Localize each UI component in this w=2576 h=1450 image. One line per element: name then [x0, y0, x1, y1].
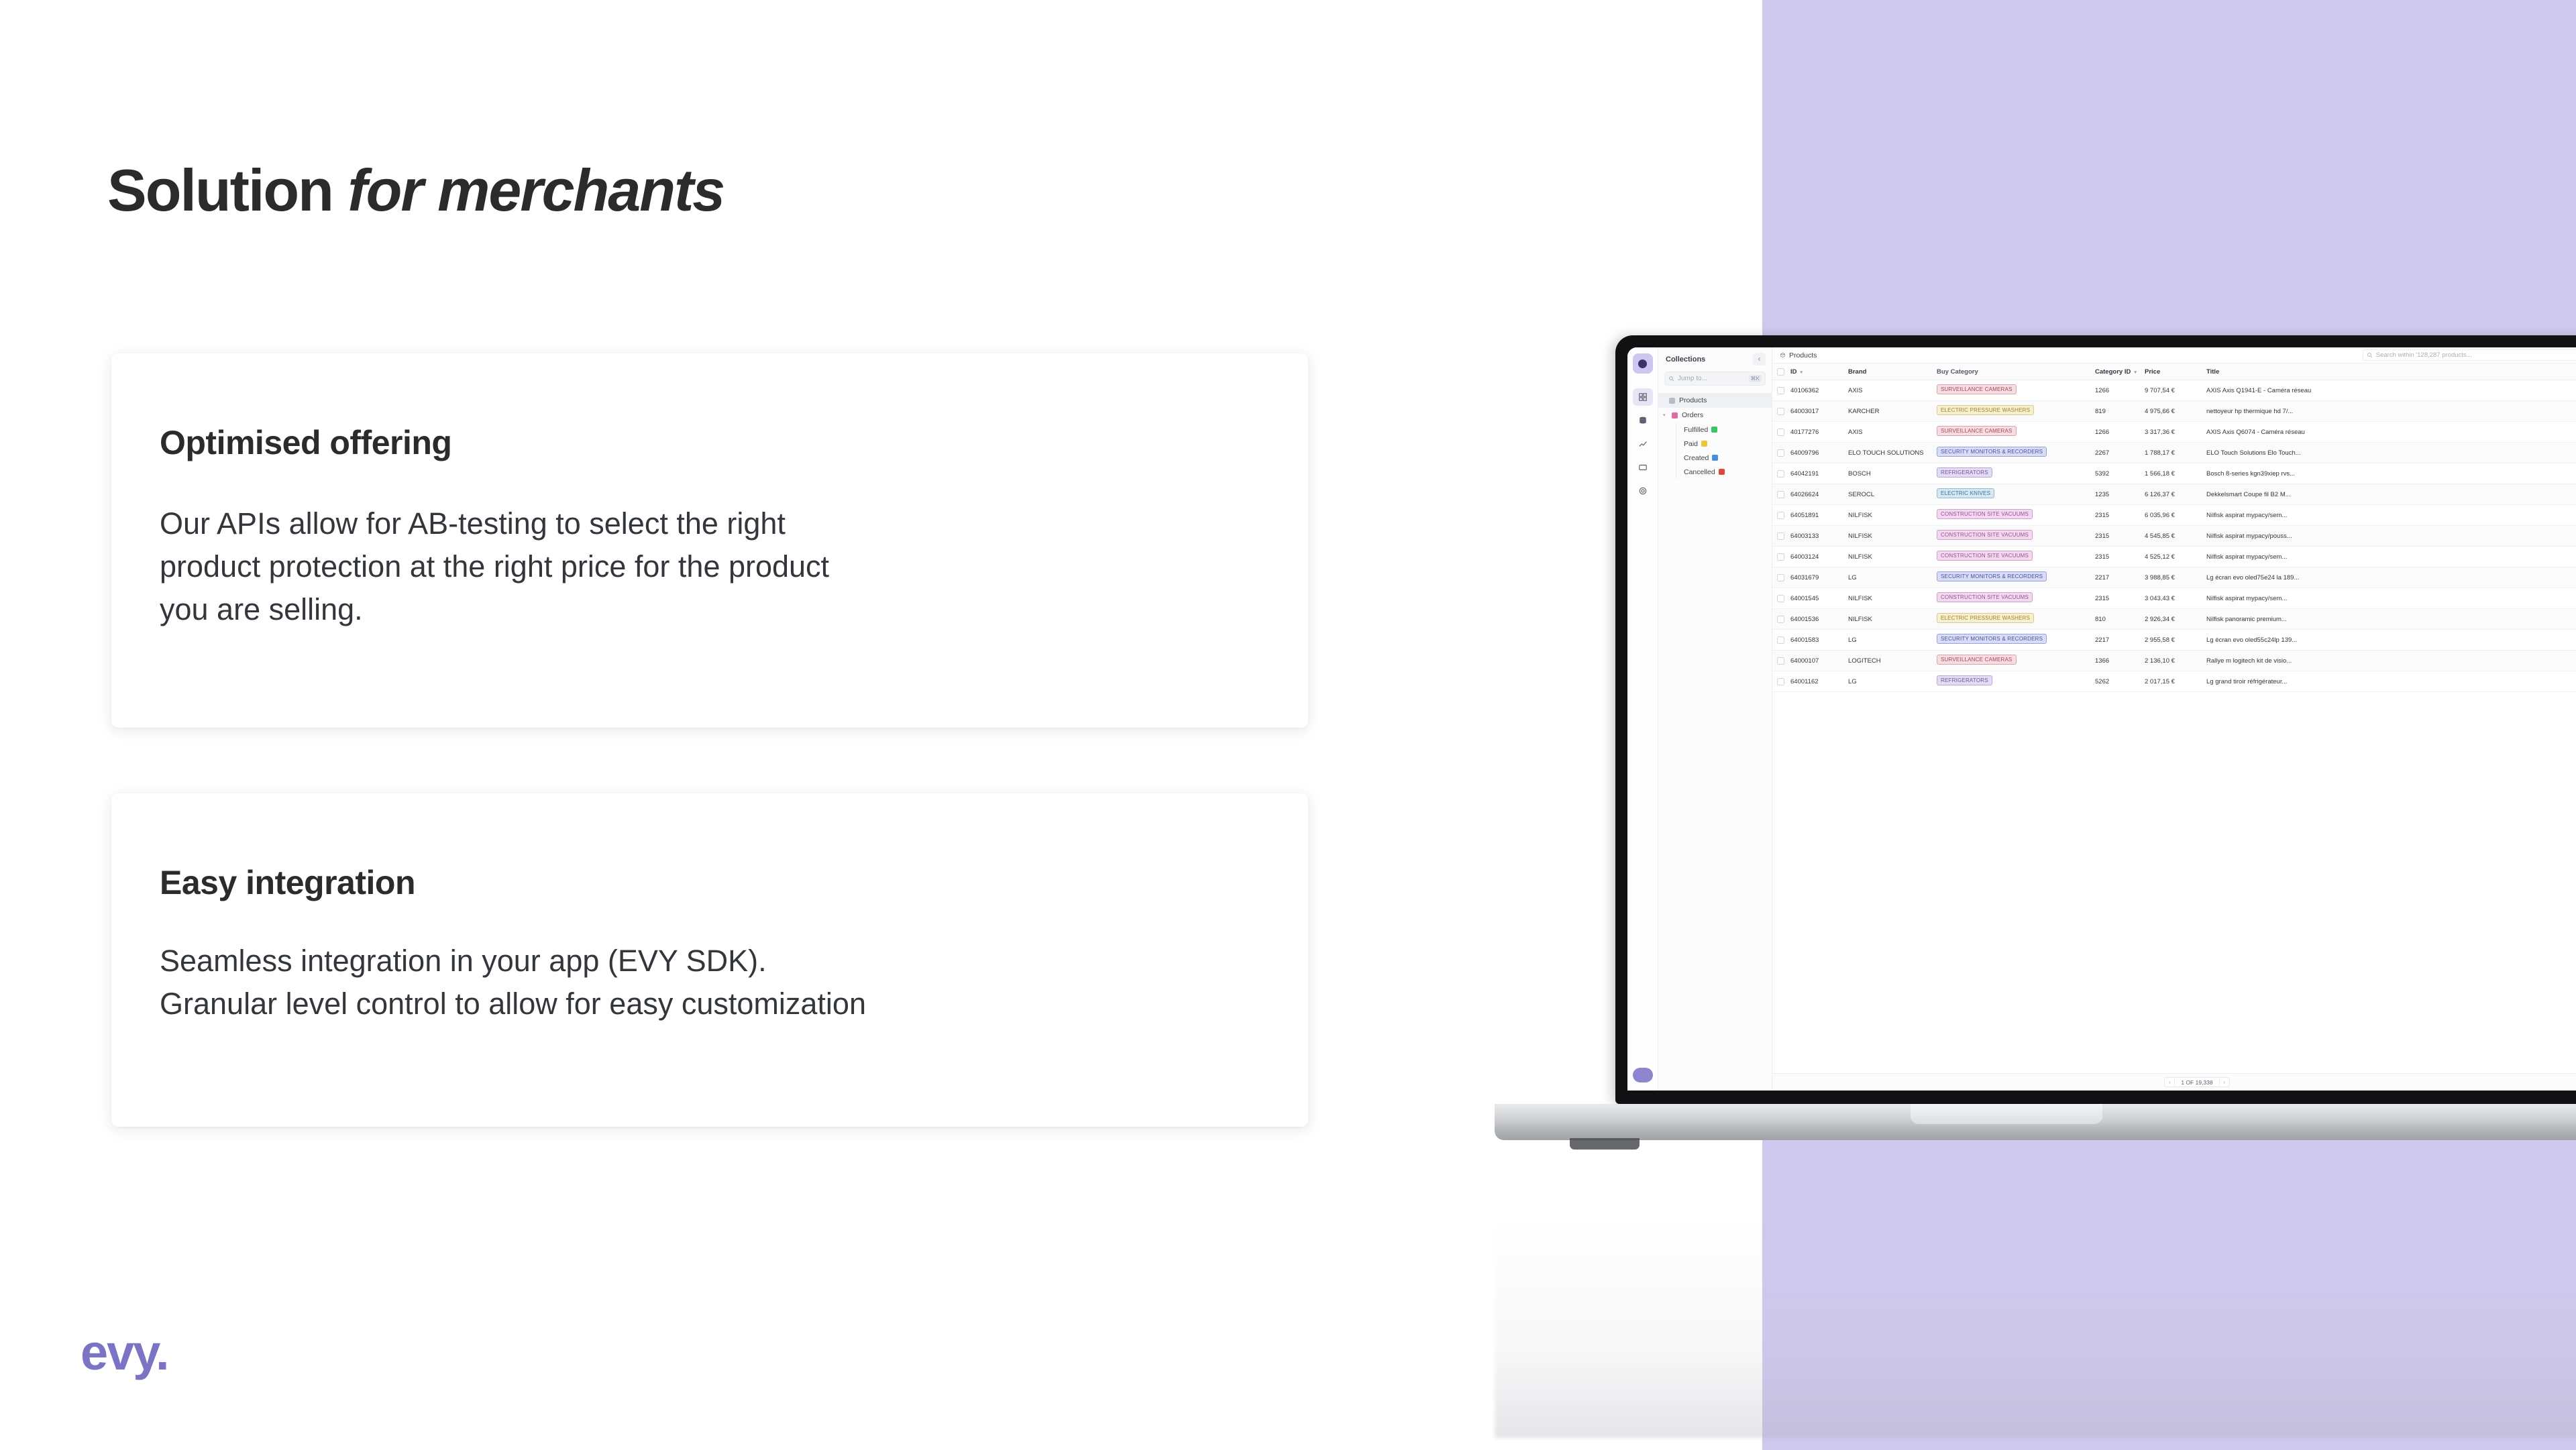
cell-id: 40177276	[1790, 429, 1848, 436]
row-checkbox[interactable]	[1777, 449, 1784, 457]
chevron-down-icon[interactable]: ▾	[1663, 412, 1667, 418]
table-row[interactable]: 64003124NILFISKCONSTRUCTION SITE VACUUMS…	[1772, 547, 2576, 567]
cell-title: Nilfisk aspirat mypacy/sem...	[2206, 595, 2576, 602]
tree-child-cancelled[interactable]: Cancelled	[1658, 465, 1772, 479]
cell-brand: AXIS	[1848, 429, 1937, 436]
cell-price: 3 317,36 €	[2145, 429, 2206, 436]
category-tag: CONSTRUCTION SITE VACUUMS	[1937, 592, 2033, 602]
collections-panel: Collections Jump to... ⌘K Products	[1658, 347, 1772, 1091]
cell-price: 6 126,37 €	[2145, 491, 2206, 498]
category-tag: SECURITY MONITORS & RECORDERS	[1937, 634, 2047, 644]
chart-line-icon[interactable]	[1633, 435, 1653, 453]
laptop-base-notch	[1911, 1104, 2102, 1124]
cell-brand: SEROCL	[1848, 491, 1937, 498]
row-checkbox[interactable]	[1777, 595, 1784, 602]
row-checkbox[interactable]	[1777, 429, 1784, 436]
pagination: ‹ 1 OF 19,338 ›	[2164, 1077, 2229, 1087]
card-body-line: product protection at the right price fo…	[160, 545, 1260, 588]
category-tag: SECURITY MONITORS & RECORDERS	[1937, 571, 2047, 581]
prev-page-button[interactable]: ‹	[2165, 1079, 2174, 1085]
cell-price: 2 926,34 €	[2145, 616, 2206, 623]
row-checkbox[interactable]	[1777, 616, 1784, 623]
row-checkbox[interactable]	[1777, 491, 1784, 498]
category-tag: SURVEILLANCE CAMERAS	[1937, 384, 2017, 394]
cell-id: 64001545	[1790, 595, 1848, 602]
tab-label: Products	[1789, 351, 1817, 359]
cell-title: Lg écran evo oled75e24 la 189...	[2206, 574, 2576, 581]
collections-header: Collections	[1658, 353, 1772, 372]
cell-brand: NILFISK	[1848, 533, 1937, 540]
column-header-title[interactable]: Title	[2206, 368, 2576, 376]
cell-buy-category: REFRIGERATORS	[1937, 675, 2095, 687]
search-icon	[1668, 376, 1674, 382]
cell-brand: NILFISK	[1848, 595, 1937, 602]
cell-buy-category: REFRIGERATORS	[1937, 467, 2095, 480]
tree-item-orders[interactable]: ▾ Orders	[1658, 408, 1772, 423]
jump-to-shortcut: ⌘K	[1749, 375, 1762, 382]
products-icon	[1780, 352, 1786, 358]
column-header-buy-category[interactable]: Buy Category	[1937, 368, 2095, 376]
tab-products[interactable]: Products	[1780, 351, 1817, 359]
cell-category-id: 2217	[2095, 636, 2145, 644]
row-checkbox[interactable]	[1777, 533, 1784, 540]
cell-title: Rallye m logitech kit de visio...	[2206, 657, 2576, 665]
cell-buy-category: CONSTRUCTION SITE VACUUMS	[1937, 551, 2095, 563]
card-title: Optimised offering	[160, 423, 451, 462]
cell-id: 64026624	[1790, 491, 1848, 498]
grid-icon[interactable]	[1633, 388, 1653, 406]
tree-child-label: Created	[1684, 454, 1709, 462]
card-body: Our APIs allow for AB-testing to select …	[160, 502, 1260, 631]
cell-id: 64009796	[1790, 449, 1848, 457]
cell-price: 2 017,15 €	[2145, 678, 2206, 685]
cell-buy-category: SECURITY MONITORS & RECORDERS	[1937, 571, 2095, 583]
table-header-row: ID▾ Brand Buy Category Category ID▾ Pric…	[1772, 364, 2576, 380]
search-icon	[2367, 352, 2373, 358]
cell-category-id: 1266	[2095, 429, 2145, 436]
cell-brand: NILFISK	[1848, 616, 1937, 623]
cell-id: 64000107	[1790, 657, 1848, 665]
database-icon[interactable]	[1633, 412, 1653, 429]
cell-id: 64051891	[1790, 512, 1848, 519]
category-tag: CONSTRUCTION SITE VACUUMS	[1937, 509, 2033, 519]
card-icon[interactable]	[1633, 459, 1653, 476]
page-title-italic: for merchants	[347, 157, 724, 223]
cell-title: ELO Touch Solutions Elo Touch...	[2206, 449, 2576, 457]
table-row[interactable]: 64003133NILFISKCONSTRUCTION SITE VACUUMS…	[1772, 526, 2576, 547]
category-tag: CONSTRUCTION SITE VACUUMS	[1937, 530, 2033, 540]
status-badge	[1712, 455, 1718, 461]
column-header-price[interactable]: Price	[2145, 368, 2206, 376]
status-badge	[1719, 469, 1725, 475]
card-title: Easy integration	[160, 863, 415, 902]
cell-id: 64001536	[1790, 616, 1848, 623]
table-row[interactable]: 64051891NILFISKCONSTRUCTION SITE VACUUMS…	[1772, 505, 2576, 526]
cell-category-id: 2315	[2095, 553, 2145, 561]
evy-dashboard-app: Collections Jump to... ⌘K Products	[1627, 347, 2576, 1091]
evy-logo: evy.	[80, 1324, 168, 1381]
table-row[interactable]: 64001162LGREFRIGERATORS52622 017,15 €Lg …	[1772, 671, 2576, 692]
table-row[interactable]: 64000107LOGITECHSURVEILLANCE CAMERAS1366…	[1772, 651, 2576, 671]
table-body: 40106362AXISSURVEILLANCE CAMERAS12669 70…	[1772, 380, 2576, 692]
cell-id: 64003124	[1790, 553, 1848, 561]
cell-title: Dekkelsmart Coupe fil B2 M...	[2206, 491, 2576, 498]
cell-price: 6 035,96 €	[2145, 512, 2206, 519]
tree-child-label: Paid	[1684, 440, 1698, 448]
avatar[interactable]	[1633, 1068, 1653, 1082]
category-tag: ELECTRIC PRESSURE WASHERS	[1937, 405, 2034, 415]
status-badge	[1711, 427, 1717, 433]
laptop-screen: Collections Jump to... ⌘K Products	[1627, 347, 2576, 1091]
card-optimised-offering: Optimised offering Our APIs allow for AB…	[111, 353, 1308, 728]
cell-category-id: 1266	[2095, 387, 2145, 394]
jump-to-input[interactable]: Jump to... ⌘K	[1664, 372, 1766, 386]
cell-category-id: 810	[2095, 616, 2145, 623]
laptop-foot	[1570, 1138, 1640, 1150]
icon-rail	[1627, 347, 1658, 1091]
cell-brand: NILFISK	[1848, 512, 1937, 519]
table-pane: Products Search within '128,287 products…	[1772, 347, 2576, 1091]
cell-title: nettoyeur hp thermique hd 7/...	[2206, 408, 2576, 415]
cell-category-id: 5392	[2095, 470, 2145, 478]
cell-brand: NILFISK	[1848, 553, 1937, 561]
category-tag: REFRIGERATORS	[1937, 675, 1992, 685]
card-body-line: Granular level control to allow for easy…	[160, 983, 1260, 1025]
cell-price: 4 525,12 €	[2145, 553, 2206, 561]
page-label: 1 OF 19,338	[2174, 1079, 2219, 1086]
cell-price: 9 707,54 €	[2145, 387, 2206, 394]
cell-category-id: 1235	[2095, 491, 2145, 498]
app-logo-icon[interactable]	[1633, 353, 1653, 374]
cell-category-id: 2267	[2095, 449, 2145, 457]
cell-buy-category: SURVEILLANCE CAMERAS	[1937, 426, 2095, 438]
row-checkbox[interactable]	[1777, 387, 1784, 394]
row-checkbox[interactable]	[1777, 636, 1784, 644]
tree-child-label: Fulfilled	[1684, 426, 1708, 434]
category-tag: SECURITY MONITORS & RECORDERS	[1937, 447, 2047, 457]
table-row[interactable]: 64009796ELO TOUCH SOLUTIONSSECURITY MONI…	[1772, 443, 2576, 463]
select-all-checkbox[interactable]	[1777, 368, 1784, 376]
category-tag: ELECTRIC PRESSURE WASHERS	[1937, 613, 2034, 623]
page-title-normal: Solution	[107, 157, 347, 223]
cell-price: 1 566,18 €	[2145, 470, 2206, 478]
row-checkbox[interactable]	[1777, 657, 1784, 665]
cell-brand: LOGITECH	[1848, 657, 1937, 665]
tree-child-fulfilled[interactable]: Fulfilled	[1658, 423, 1772, 437]
topbar-right: Search within '128,287 products... Filte…	[2363, 349, 2576, 361]
laptop-reflection	[1495, 1150, 2576, 1438]
cell-id: 64001583	[1790, 636, 1848, 644]
cell-buy-category: CONSTRUCTION SITE VACUUMS	[1937, 592, 2095, 604]
cell-id: 64031679	[1790, 574, 1848, 581]
cell-category-id: 2315	[2095, 533, 2145, 540]
tree-child-created[interactable]: Created	[1658, 451, 1772, 465]
tree-item-products[interactable]: Products	[1658, 393, 1772, 408]
table-row[interactable]: 64001583LGSECURITY MONITORS & RECORDERS2…	[1772, 630, 2576, 651]
cell-id: 40106362	[1790, 387, 1848, 394]
cell-title: AXIS Axis Q6074 - Caméra réseau	[2206, 429, 2576, 436]
cell-price: 4 545,85 €	[2145, 533, 2206, 540]
table-row[interactable]: 64001536NILFISKELECTRIC PRESSURE WASHERS…	[1772, 609, 2576, 630]
table-footer: ‹ 1 OF 19,338 ›	[1772, 1073, 2576, 1091]
table-row[interactable]: 64026624SEROCLELECTRIC KNIVES12356 126,3…	[1772, 484, 2576, 505]
cell-buy-category: SECURITY MONITORS & RECORDERS	[1937, 634, 2095, 646]
cell-buy-category: CONSTRUCTION SITE VACUUMS	[1937, 530, 2095, 542]
cell-id: 64003017	[1790, 408, 1848, 415]
cell-category-id: 5262	[2095, 678, 2145, 685]
tree-item-label: Products	[1679, 396, 1707, 404]
table-topbar: Products Search within '128,287 products…	[1772, 347, 2576, 364]
cell-price: 2 136,10 €	[2145, 657, 2206, 665]
column-header-id[interactable]: ID▾	[1790, 368, 1848, 376]
table-row[interactable]: 40177276AXISSURVEILLANCE CAMERAS12663 31…	[1772, 422, 2576, 443]
category-tag: REFRIGERATORS	[1937, 467, 1992, 478]
cell-price: 4 975,66 €	[2145, 408, 2206, 415]
table-row[interactable]: 64001545NILFISKCONSTRUCTION SITE VACUUMS…	[1772, 588, 2576, 609]
row-checkbox[interactable]	[1777, 574, 1784, 581]
card-body-line: you are selling.	[160, 588, 1260, 631]
cell-brand: ELO TOUCH SOLUTIONS	[1848, 449, 1937, 457]
cell-title: Nilfisk aspirat mypacy/sem...	[2206, 553, 2576, 561]
table-row[interactable]: 64003017KARCHERELECTRIC PRESSURE WASHERS…	[1772, 401, 2576, 422]
cell-price: 3 988,85 €	[2145, 574, 2206, 581]
cell-price: 3 043,43 €	[2145, 595, 2206, 602]
cell-buy-category: ELECTRIC PRESSURE WASHERS	[1937, 613, 2095, 625]
search-input[interactable]: Search within '128,287 products...	[2363, 349, 2576, 361]
category-tag: SURVEILLANCE CAMERAS	[1937, 426, 2017, 436]
column-header-brand[interactable]: Brand	[1848, 368, 1937, 376]
cell-buy-category: ELECTRIC PRESSURE WASHERS	[1937, 405, 2095, 417]
cell-brand: AXIS	[1848, 387, 1937, 394]
cell-brand: LG	[1848, 574, 1937, 581]
cell-buy-category: CONSTRUCTION SITE VACUUMS	[1937, 509, 2095, 521]
cell-brand: LG	[1848, 678, 1937, 685]
row-checkbox[interactable]	[1777, 553, 1784, 561]
next-page-button[interactable]: ›	[2220, 1079, 2229, 1085]
tree-item-label: Orders	[1682, 411, 1703, 419]
page-title: Solution for merchants	[107, 160, 724, 221]
tree-children: Fulfilled Paid Created Cancelled	[1658, 423, 1772, 479]
cell-category-id: 2217	[2095, 574, 2145, 581]
cell-title: Nilfisk aspirat mypacy/sem...	[2206, 512, 2576, 519]
cell-price: 1 788,17 €	[2145, 449, 2206, 457]
cell-title: AXIS Axis Q1941-E - Caméra réseau	[2206, 387, 2576, 394]
column-header-category-id[interactable]: Category ID▾	[2095, 368, 2145, 376]
gear-icon[interactable]	[1633, 482, 1653, 500]
category-tag: ELECTRIC KNIVES	[1937, 488, 1994, 498]
cell-category-id: 1366	[2095, 657, 2145, 665]
card-easy-integration: Easy integration Seamless integration in…	[111, 793, 1308, 1127]
cell-title: Nilfisk panoramic premium...	[2206, 616, 2576, 623]
row-checkbox[interactable]	[1777, 408, 1784, 415]
cell-id: 64001162	[1790, 678, 1848, 685]
cell-buy-category: ELECTRIC KNIVES	[1937, 488, 2095, 500]
card-body-line: Seamless integration in your app (EVY SD…	[160, 940, 1260, 983]
cell-brand: BOSCH	[1848, 470, 1937, 478]
card-body: Seamless integration in your app (EVY SD…	[160, 940, 1260, 1025]
row-checkbox[interactable]	[1777, 678, 1784, 685]
cell-category-id: 2315	[2095, 512, 2145, 519]
status-badge	[1701, 441, 1707, 447]
products-icon	[1669, 398, 1675, 404]
tree-child-label: Cancelled	[1684, 468, 1715, 476]
cell-buy-category: SURVEILLANCE CAMERAS	[1937, 384, 2095, 396]
card-body-line: Our APIs allow for AB-testing to select …	[160, 502, 1260, 545]
cell-buy-category: SECURITY MONITORS & RECORDERS	[1937, 447, 2095, 459]
laptop-mockup: Collections Jump to... ⌘K Products	[1495, 335, 2576, 1147]
category-tag: SURVEILLANCE CAMERAS	[1937, 655, 2017, 665]
cell-id: 64042191	[1790, 470, 1848, 478]
cell-title: Lg grand tiroir réfrigérateur...	[2206, 678, 2576, 685]
category-tag: CONSTRUCTION SITE VACUUMS	[1937, 551, 2033, 561]
table-row[interactable]: 64042191BOSCHREFRIGERATORS53921 566,18 €…	[1772, 463, 2576, 484]
cell-title: Bosch 8-series kgn39xiep rvs...	[2206, 470, 2576, 478]
cell-title: Lg écran evo oled55c24lp 139...	[2206, 636, 2576, 644]
cell-brand: KARCHER	[1848, 408, 1937, 415]
cell-brand: LG	[1848, 636, 1937, 644]
jump-to-placeholder: Jump to...	[1678, 375, 1746, 382]
panel-collapse-icon[interactable]	[1753, 353, 1766, 366]
cell-category-id: 819	[2095, 408, 2145, 415]
row-checkbox[interactable]	[1777, 512, 1784, 519]
cell-category-id: 2315	[2095, 595, 2145, 602]
sort-icon: ▾	[2134, 370, 2137, 375]
row-checkbox[interactable]	[1777, 470, 1784, 478]
sort-icon: ▾	[1801, 370, 1803, 375]
products-table: ID▾ Brand Buy Category Category ID▾ Pric…	[1772, 364, 2576, 1073]
cell-buy-category: SURVEILLANCE CAMERAS	[1937, 655, 2095, 667]
cell-id: 64003133	[1790, 533, 1848, 540]
table-row[interactable]: 40106362AXISSURVEILLANCE CAMERAS12669 70…	[1772, 380, 2576, 401]
search-placeholder: Search within '128,287 products...	[2376, 351, 2472, 359]
table-row[interactable]: 64031679LGSECURITY MONITORS & RECORDERS2…	[1772, 567, 2576, 588]
cell-title: Nilfisk aspirat mypacy/pouss...	[2206, 533, 2576, 540]
tree-child-paid[interactable]: Paid	[1658, 437, 1772, 451]
collections-title: Collections	[1666, 355, 1705, 364]
orders-icon	[1672, 412, 1678, 419]
cell-price: 2 955,58 €	[2145, 636, 2206, 644]
